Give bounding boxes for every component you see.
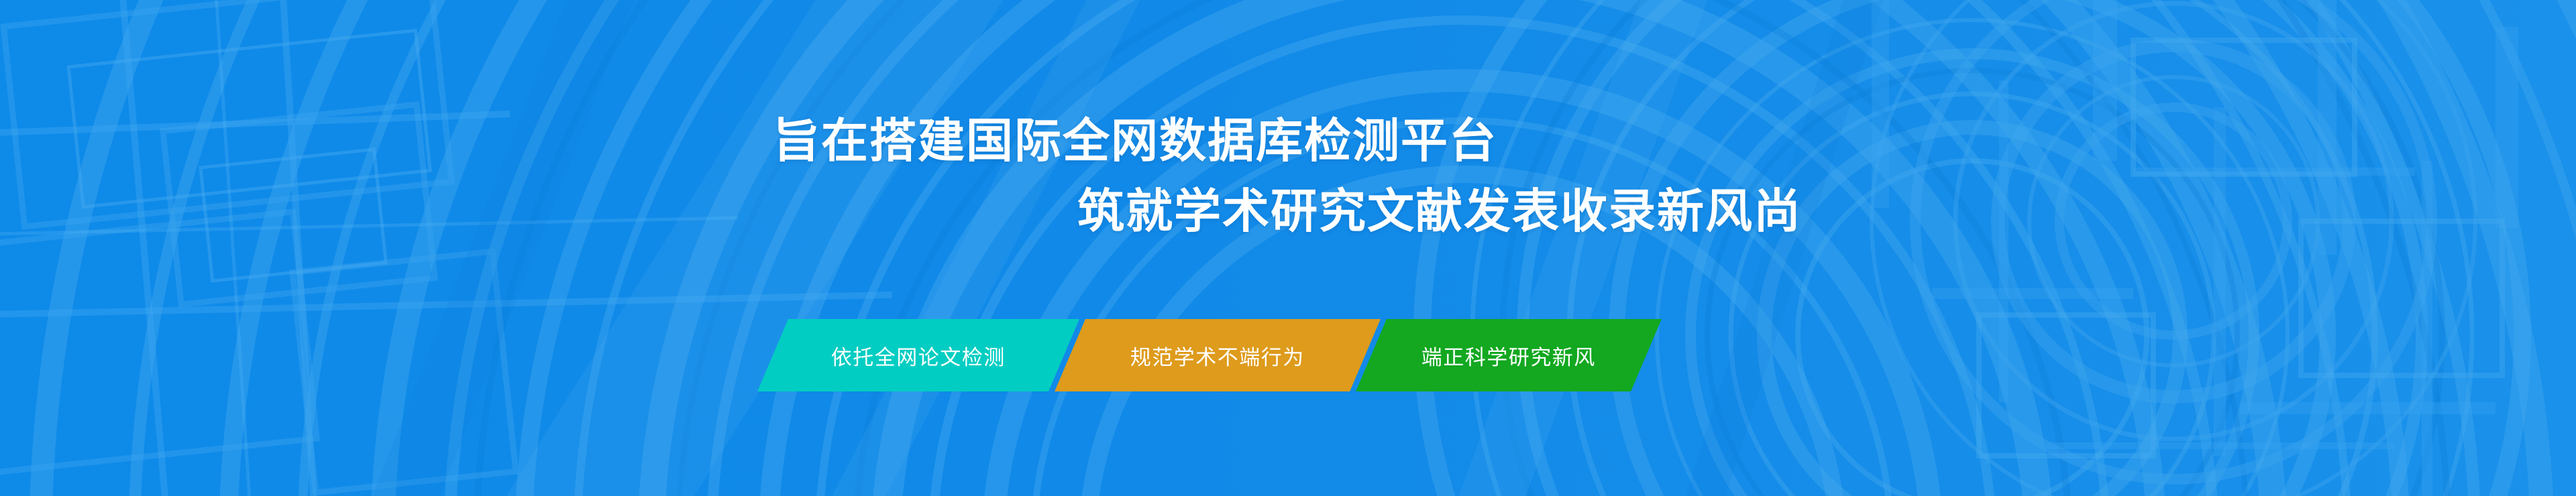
feature-tag-label: 依托全网论文检测 — [831, 340, 1006, 371]
feature-tag-label: 端正科学研究新风 — [1421, 340, 1596, 371]
feature-tag-academic-misconduct[interactable]: 规范学术不端行为 — [1055, 319, 1381, 391]
feature-tag-strip: 依托全网论文检测 规范学术不端行为 端正科学研究新风 — [773, 319, 1646, 391]
background-tech-graphic — [0, 0, 2576, 496]
headline-line-2: 筑就学术研究文献发表收录新风尚 — [1077, 183, 2576, 240]
promo-banner: 旨在搭建国际全网数据库检测平台 筑就学术研究文献发表收录新风尚 依托全网论文检测… — [0, 0, 2576, 496]
feature-tag-paper-detection[interactable]: 依托全网论文检测 — [757, 319, 1079, 391]
headline-block: 旨在搭建国际全网数据库检测平台 筑就学术研究文献发表收录新风尚 — [0, 113, 2576, 240]
feature-tag-label: 规范学术不端行为 — [1130, 340, 1305, 371]
background-pattern — [0, 0, 2576, 496]
feature-tag-research-ethos[interactable]: 端正科学研究新风 — [1356, 319, 1662, 391]
headline-line-1: 旨在搭建国际全网数据库检测平台 — [773, 113, 2576, 170]
